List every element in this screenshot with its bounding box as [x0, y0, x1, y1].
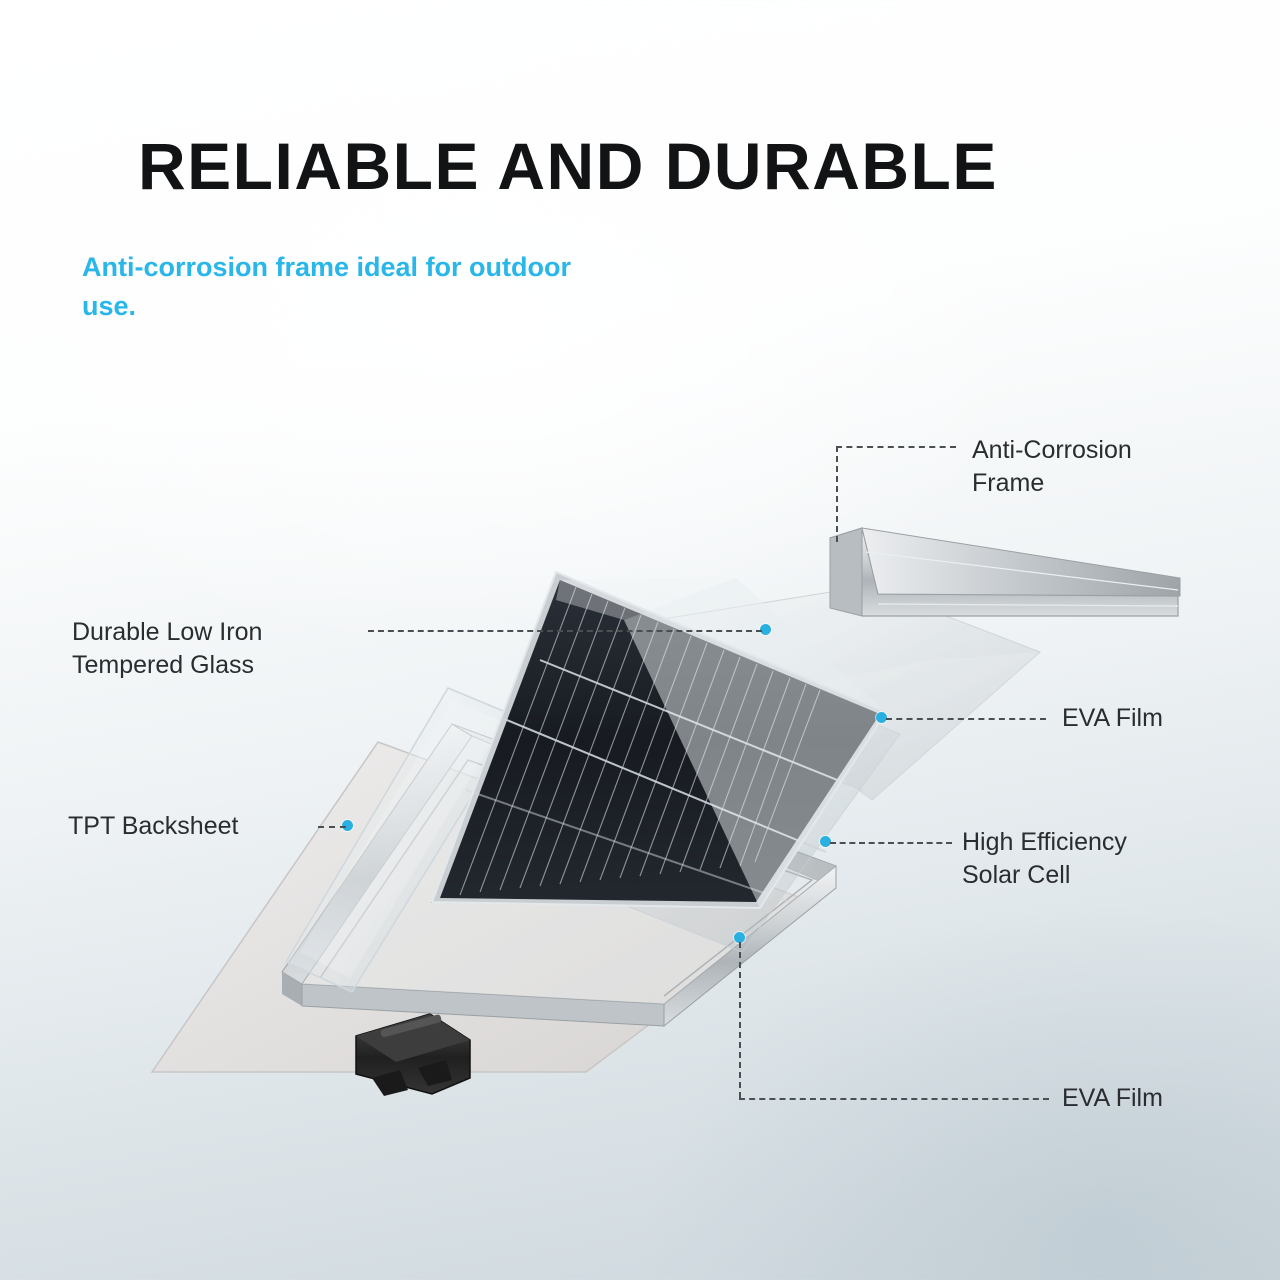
- callout-tempered-glass: Durable Low Iron Tempered Glass: [72, 616, 372, 682]
- leader-eva-film-top: [886, 718, 1046, 720]
- leader-tempered-glass: [368, 630, 762, 632]
- callout-tpt-backsheet: TPT Backsheet: [68, 810, 328, 843]
- callout-eva-film-bottom: EVA Film: [1062, 1082, 1280, 1115]
- leader-high-efficiency-solar-cell: [830, 842, 952, 844]
- callout-high-efficiency-solar-cell: High Efficiency Solar Cell: [962, 826, 1242, 892]
- leader-eva-film-bottom-v: [739, 942, 741, 1098]
- leader-anti-corrosion-frame-v: [836, 446, 838, 542]
- callout-eva-film-top: EVA Film: [1062, 702, 1280, 735]
- top-anti-corrosion-frame: [830, 528, 1180, 616]
- leader-eva-film-bottom-h: [739, 1098, 1049, 1100]
- callout-anti-corrosion-frame: Anti-Corrosion Frame: [972, 434, 1232, 500]
- leader-anti-corrosion-frame-h: [836, 446, 956, 448]
